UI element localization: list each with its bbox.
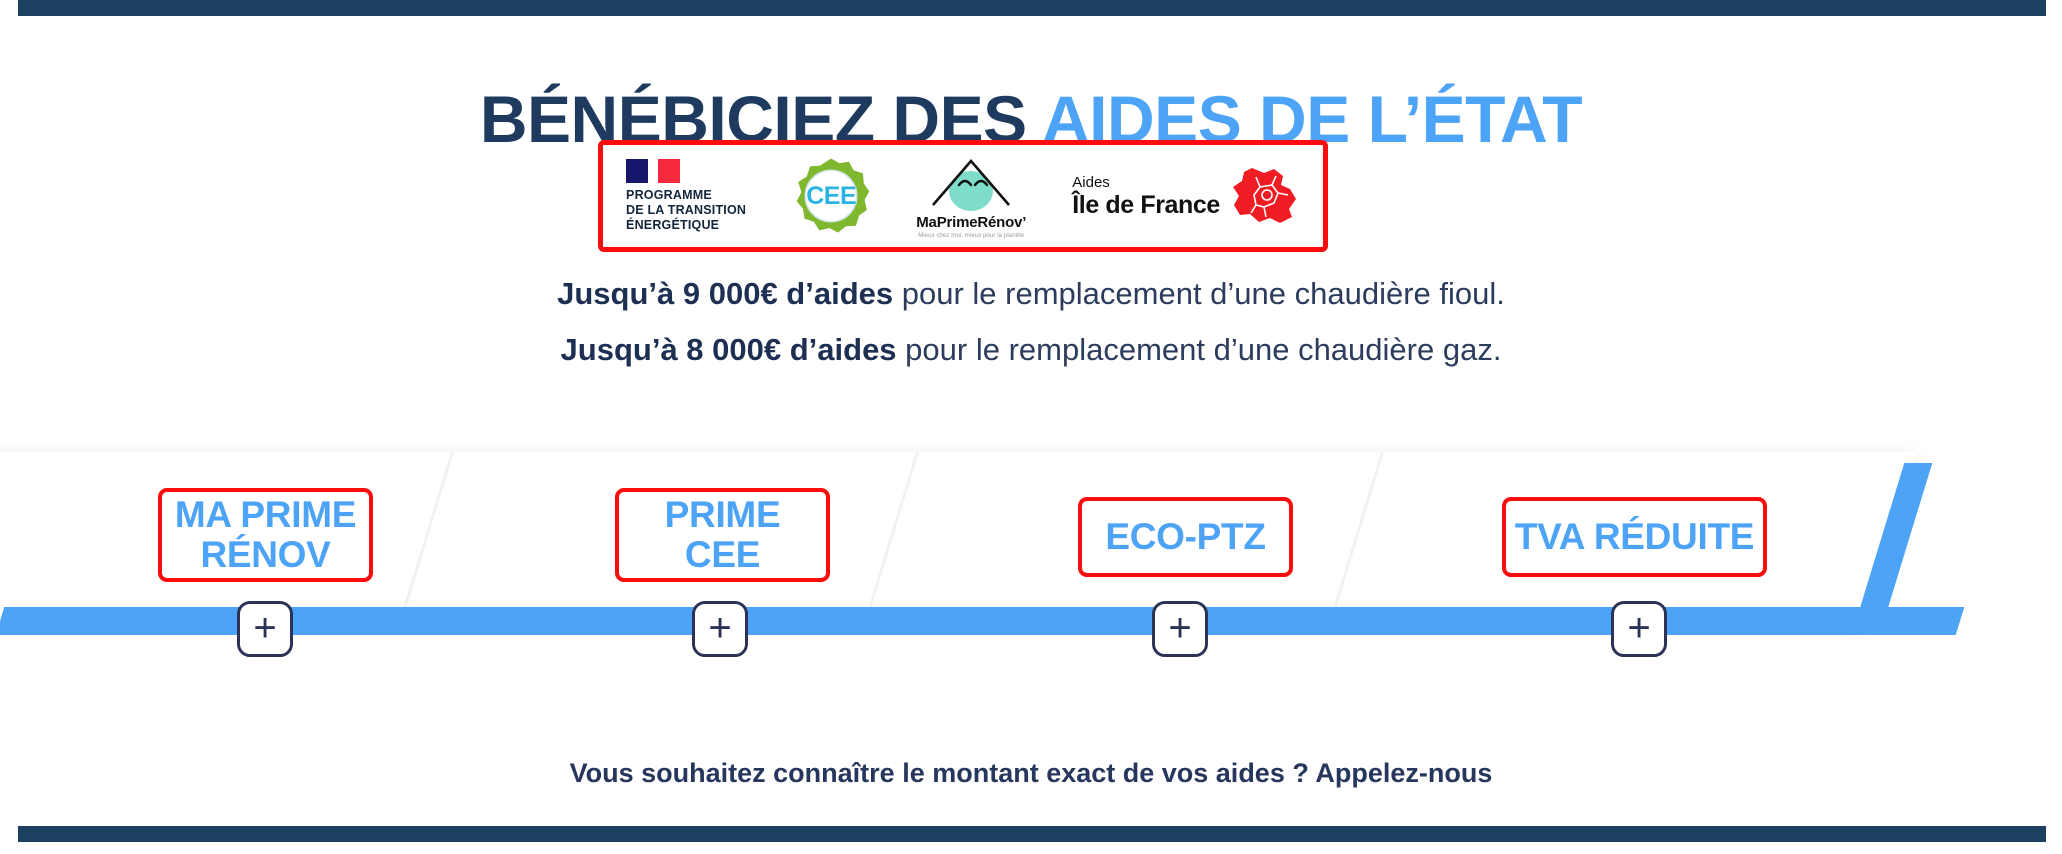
house-roof-icon bbox=[923, 153, 1019, 213]
logo-idf-line1: Aides bbox=[1072, 175, 1220, 190]
top-divider-bar bbox=[18, 0, 2046, 16]
ile-de-france-map-icon bbox=[1226, 165, 1300, 227]
aid-amount-gaz-rest: pour le remplacement d’une chaudière gaz… bbox=[897, 332, 1502, 367]
logo-cee: CEE bbox=[792, 145, 870, 247]
logo-maprimerenov-tagline: Mieux chez moi, mieux pour la planète bbox=[918, 233, 1024, 239]
logo-cee-label: CEE bbox=[792, 157, 870, 235]
logo-programme-transition-energetique: PROGRAMME DE LA TRANSITION ÉNERGÉTIQUE bbox=[626, 145, 746, 247]
contact-prompt: Vous souhaitez connaître le montant exac… bbox=[0, 758, 2062, 789]
bottom-divider-bar bbox=[18, 826, 2046, 842]
aid-amount-gaz-bold: Jusqu’à 8 000€ d’aides bbox=[561, 332, 897, 367]
logo-maprimerenov-name: MaPrimeRénov’ bbox=[916, 214, 1026, 231]
logo-maprimerenov: MaPrimeRénov’ Mieux chez moi, mieux pour… bbox=[916, 145, 1026, 247]
expand-button-ma-prime-renov[interactable]: + bbox=[237, 601, 293, 657]
expand-button-tva-reduite[interactable]: + bbox=[1611, 601, 1667, 657]
aid-amount-fioul-bold: Jusqu’à 9 000€ d’aides bbox=[557, 276, 893, 311]
partner-logos-frame: PROGRAMME DE LA TRANSITION ÉNERGÉTIQUE C… bbox=[598, 140, 1328, 252]
aid-amount-line-fioul: Jusqu’à 9 000€ d’aides pour le remplacem… bbox=[0, 276, 2062, 312]
aid-chip-eco-ptz[interactable]: ECO-PTZ bbox=[1078, 497, 1293, 577]
logo-programme-label: PROGRAMME DE LA TRANSITION ÉNERGÉTIQUE bbox=[626, 188, 746, 232]
logo-aides-ile-de-france: Aides Île de France bbox=[1072, 145, 1300, 247]
french-flag-icon bbox=[626, 159, 680, 183]
aids-band-blue-bar bbox=[0, 607, 1964, 635]
aid-chip-ma-prime-renov[interactable]: MA PRIME RÉNOV bbox=[158, 488, 373, 582]
logo-idf-line2: Île de France bbox=[1072, 193, 1220, 218]
cee-badge-icon: CEE bbox=[792, 157, 870, 235]
aid-chip-prime-cee[interactable]: PRIME CEE bbox=[615, 488, 830, 582]
aid-amount-fioul-rest: pour le remplacement d’une chaudière fio… bbox=[893, 276, 1505, 311]
expand-button-prime-cee[interactable]: + bbox=[692, 601, 748, 657]
expand-button-eco-ptz[interactable]: + bbox=[1152, 601, 1208, 657]
aid-amount-line-gaz: Jusqu’à 8 000€ d’aides pour le remplacem… bbox=[0, 332, 2062, 368]
aid-chip-tva-reduite[interactable]: TVA RÉDUITE bbox=[1502, 497, 1767, 577]
